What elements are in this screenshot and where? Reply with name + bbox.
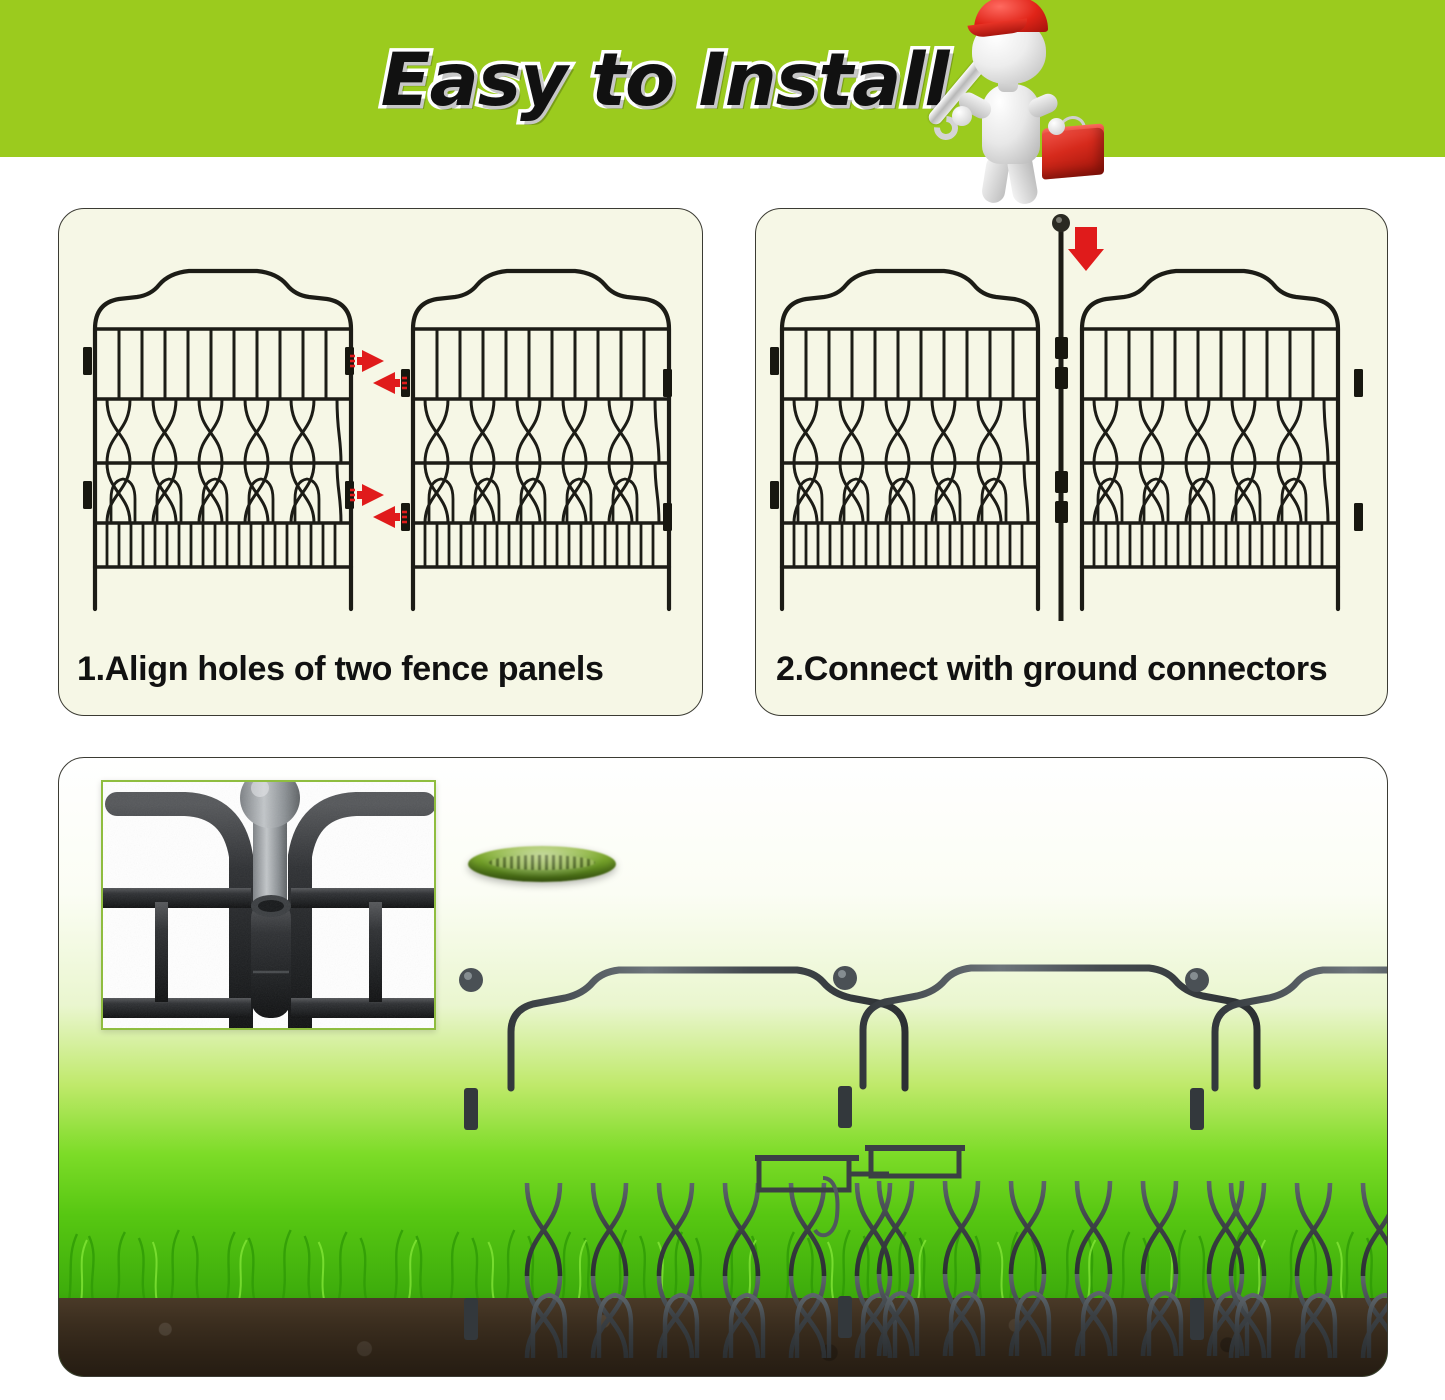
fence-panel-right (1082, 271, 1338, 609)
ground-stake-1 (459, 968, 483, 1377)
align-arrow-lower-right (350, 484, 384, 506)
ground-stake-3 (1185, 968, 1209, 1377)
fence-panel-left (782, 271, 1038, 609)
step-1-diagram (59, 209, 702, 639)
step-card-2: 2.Connect with ground connectors (755, 208, 1388, 716)
step-1-caption: 1.Align holes of two fence panels (59, 650, 702, 689)
fence-panel-3 (1215, 970, 1388, 1377)
flying-disc (468, 846, 616, 882)
step-2-caption: 2.Connect with ground connectors (756, 650, 1387, 689)
fence-panel-right (413, 271, 669, 609)
mascot-torso (982, 84, 1040, 164)
mascot-hand-right (1048, 118, 1065, 135)
latch-assembly (755, 1148, 965, 1235)
mascot-hand-left (952, 106, 972, 126)
installation-steps: 1.Align holes of two fence panels (0, 208, 1445, 720)
toolbox-icon (1042, 127, 1104, 179)
ground-connector-stake (1052, 214, 1070, 621)
header-banner: Easy to Install (0, 0, 1445, 157)
step-2-diagram (756, 209, 1387, 639)
fence-panel-left (95, 271, 351, 609)
step-card-1: 1.Align holes of two fence panels (58, 208, 703, 716)
connector-joint-closeup (101, 780, 436, 1030)
handyman-mascot (930, 0, 1105, 202)
page-title: Easy to Install (0, 38, 1387, 123)
hero-photo (58, 757, 1388, 1377)
align-arrow-upper-right (350, 350, 384, 372)
insert-down-arrow (1068, 227, 1104, 271)
